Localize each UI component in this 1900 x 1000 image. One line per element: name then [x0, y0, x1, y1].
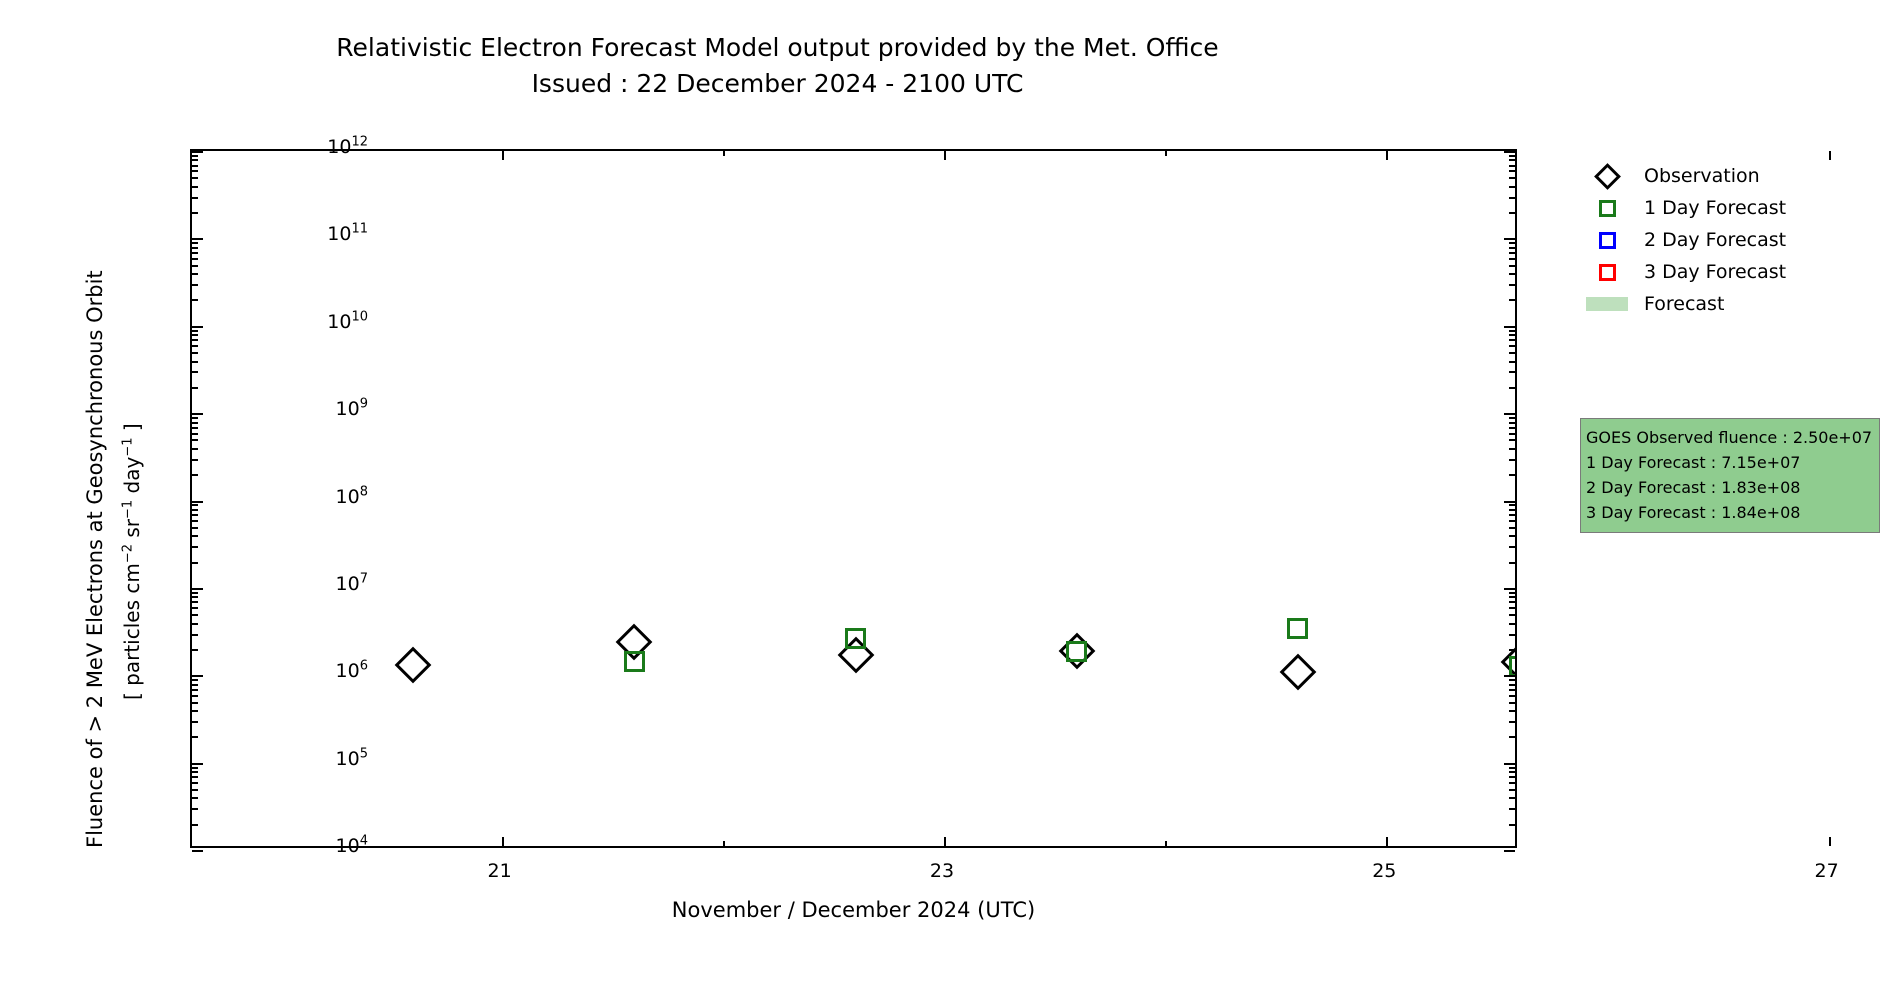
- y-tick-minor: [1509, 623, 1515, 625]
- y-tick-label: 106: [336, 662, 368, 681]
- x-tick-label: 21: [480, 860, 520, 882]
- y-tick-major: [192, 413, 203, 415]
- observation-marker: [1279, 653, 1316, 690]
- x-tick-major: [944, 837, 946, 846]
- x-tick-major: [502, 837, 504, 846]
- observation-marker: [395, 647, 432, 684]
- legend-item-label: 1 Day Forecast: [1644, 197, 1786, 219]
- y-tick-minor: [1509, 284, 1515, 286]
- square-icon: [1599, 264, 1616, 281]
- y-tick-minor: [1509, 562, 1515, 564]
- y-tick-minor: [192, 520, 198, 522]
- x-tick-label: 23: [922, 860, 962, 882]
- y-tick-major: [1504, 326, 1515, 328]
- y-tick-minor: [192, 427, 198, 429]
- y-tick-minor: [1509, 695, 1515, 697]
- y-tick-minor: [1509, 702, 1515, 704]
- y-tick-minor: [192, 242, 198, 244]
- x-tick-major: [1386, 837, 1388, 846]
- x-tick-minor: [1165, 841, 1167, 846]
- legend-item-2[interactable]: 2 Day Forecast: [1584, 224, 1884, 256]
- y-tick-minor: [192, 159, 198, 161]
- y-tick-minor: [1509, 689, 1515, 691]
- y-tick-minor: [1509, 782, 1515, 784]
- y-tick-minor: [192, 721, 198, 723]
- page-subtitle: Issued : 22 December 2024 - 2100 UTC: [0, 66, 1555, 102]
- x-tick-major: [944, 151, 946, 160]
- y-tick-minor: [192, 433, 198, 435]
- y-tick-minor: [1509, 352, 1515, 354]
- y-tick-minor: [192, 776, 198, 778]
- y-tick-minor: [1509, 165, 1515, 167]
- y-tick-minor: [1509, 417, 1515, 419]
- y-tick-minor: [192, 736, 198, 738]
- y-tick-minor: [1509, 427, 1515, 429]
- y-tick-minor: [192, 252, 198, 254]
- diamond-icon: [1594, 163, 1621, 190]
- y-tick-major: [1504, 588, 1515, 590]
- y-tick-minor: [192, 387, 198, 389]
- y-tick-minor: [192, 771, 198, 773]
- x-tick-major: [1829, 151, 1831, 160]
- y-tick-major: [1504, 238, 1515, 240]
- y-tick-major: [192, 326, 203, 328]
- y-tick-minor: [192, 546, 198, 548]
- y-tick-minor: [192, 797, 198, 799]
- legend-item-label: 3 Day Forecast: [1644, 261, 1786, 283]
- y-tick-minor: [1509, 247, 1515, 249]
- x-tick-minor: [723, 151, 725, 156]
- y-tick-minor: [192, 417, 198, 419]
- y-tick-major: [192, 675, 203, 677]
- info-line-2: 2 Day Forecast : 1.83e+08: [1586, 475, 1874, 500]
- legend-item-label: 2 Day Forecast: [1644, 229, 1786, 251]
- legend-item-0[interactable]: Observation: [1584, 160, 1884, 192]
- y-tick-minor: [192, 334, 198, 336]
- y-tick-minor: [1509, 679, 1515, 681]
- y-tick-minor: [192, 562, 198, 564]
- y-tick-minor: [1509, 634, 1515, 636]
- y-tick-minor: [1509, 339, 1515, 341]
- y-tick-minor: [1509, 509, 1515, 511]
- x-tick-label: 25: [1364, 860, 1404, 882]
- y-tick-minor: [1509, 170, 1515, 172]
- x-tick-minor: [723, 841, 725, 846]
- y-axis-title: Fluence of > 2 MeV Electrons at Geosynch…: [83, 270, 107, 848]
- y-tick-label: 104: [336, 837, 368, 856]
- y-tick-minor: [192, 177, 198, 179]
- legend-item-label: Observation: [1644, 165, 1760, 187]
- y-tick-label: 107: [336, 575, 368, 594]
- y-tick-minor: [1509, 771, 1515, 773]
- y-tick-minor: [192, 330, 198, 332]
- y-tick-minor: [192, 265, 198, 267]
- y-tick-minor: [1509, 649, 1515, 651]
- y-tick-minor: [1509, 345, 1515, 347]
- info-line-3: 3 Day Forecast : 1.84e+08: [1586, 500, 1874, 525]
- y-tick-label: 1012: [327, 138, 368, 157]
- y-tick-minor: [1509, 197, 1515, 199]
- chart-plot-inner: Forecast: [192, 151, 1515, 846]
- y-units-sup-2: −1: [120, 500, 135, 519]
- y-tick-minor: [192, 339, 198, 341]
- y-tick-minor: [192, 601, 198, 603]
- y-tick-minor: [1509, 808, 1515, 810]
- y-tick-minor: [1509, 459, 1515, 461]
- y-tick-major: [1504, 850, 1515, 852]
- page-title: Relativistic Electron Forecast Model out…: [0, 30, 1555, 66]
- y-tick-minor: [192, 514, 198, 516]
- y-tick-minor: [1509, 155, 1515, 157]
- patch-icon: [1586, 297, 1628, 311]
- y-units-sup-1: −2: [120, 544, 135, 563]
- x-tick-minor: [1165, 151, 1167, 156]
- y-units-mid-1: sr: [120, 519, 144, 544]
- y-tick-major: [192, 850, 203, 852]
- y-tick-minor: [192, 422, 198, 424]
- y-tick-minor: [192, 695, 198, 697]
- forecast-marker: [624, 651, 645, 672]
- y-tick-minor: [1509, 710, 1515, 712]
- y-tick-minor: [192, 710, 198, 712]
- y-tick-major: [1504, 675, 1515, 677]
- y-units-suffix: ]: [120, 423, 144, 437]
- forecast-marker: [845, 628, 866, 649]
- y-tick-minor: [1509, 504, 1515, 506]
- y-tick-minor: [192, 504, 198, 506]
- y-tick-minor: [1509, 776, 1515, 778]
- y-tick-minor: [1509, 824, 1515, 826]
- y-tick-minor: [192, 592, 198, 594]
- square-icon: [1599, 200, 1616, 217]
- y-tick-minor: [1509, 242, 1515, 244]
- y-tick-minor: [1509, 371, 1515, 373]
- y-tick-minor: [192, 607, 198, 609]
- legend-item-1[interactable]: 1 Day Forecast: [1584, 192, 1884, 224]
- y-tick-label: 1010: [327, 313, 368, 332]
- y-tick-minor: [1509, 448, 1515, 450]
- y-tick-minor: [1509, 721, 1515, 723]
- y-tick-major: [192, 151, 203, 153]
- y-tick-minor: [1509, 684, 1515, 686]
- y-tick-minor: [192, 474, 198, 476]
- y-tick-minor: [192, 634, 198, 636]
- y-tick-minor: [192, 155, 198, 157]
- y-tick-minor: [192, 459, 198, 461]
- y-tick-minor: [1509, 592, 1515, 594]
- y-tick-minor: [192, 197, 198, 199]
- y-tick-minor: [192, 782, 198, 784]
- y-tick-minor: [192, 212, 198, 214]
- y-tick-minor: [192, 299, 198, 301]
- info-line-1: 1 Day Forecast : 7.15e+07: [1586, 450, 1874, 475]
- y-tick-minor: [192, 273, 198, 275]
- y-tick-minor: [1509, 258, 1515, 260]
- y-tick-minor: [1509, 596, 1515, 598]
- y-tick-minor: [192, 824, 198, 826]
- forecast-marker: [1509, 656, 1516, 677]
- legend-item-3[interactable]: 3 Day Forecast: [1584, 256, 1884, 288]
- y-tick-minor: [1509, 159, 1515, 161]
- y-tick-minor: [192, 684, 198, 686]
- chart-plot-area: Forecast: [190, 149, 1517, 848]
- y-tick-minor: [192, 767, 198, 769]
- y-tick-major: [1504, 501, 1515, 503]
- y-tick-minor: [192, 352, 198, 354]
- y-tick-minor: [192, 596, 198, 598]
- y-tick-minor: [192, 702, 198, 704]
- y-tick-minor: [1509, 474, 1515, 476]
- y-units-sup-3: −1: [120, 437, 135, 456]
- y-tick-major: [192, 238, 203, 240]
- y-tick-label: 1011: [327, 225, 368, 244]
- forecast-marker: [1287, 618, 1308, 639]
- y-tick-minor: [192, 345, 198, 347]
- y-tick-minor: [1509, 186, 1515, 188]
- y-tick-minor: [1509, 514, 1515, 516]
- y-tick-minor: [1509, 535, 1515, 537]
- y-tick-minor: [1509, 387, 1515, 389]
- y-tick-minor: [1509, 361, 1515, 363]
- y-tick-minor: [1509, 520, 1515, 522]
- x-tick-major: [1386, 151, 1388, 160]
- y-tick-minor: [1509, 422, 1515, 424]
- y-units-prefix: [ particles cm: [120, 563, 144, 700]
- y-tick-minor: [1509, 527, 1515, 529]
- y-tick-minor: [192, 789, 198, 791]
- y-tick-major: [1504, 151, 1515, 153]
- y-tick-label: 105: [336, 750, 368, 769]
- y-axis-units-title: [ particles cm−2 sr−1 day−1 ]: [120, 423, 144, 700]
- y-tick-minor: [1509, 334, 1515, 336]
- y-tick-minor: [192, 808, 198, 810]
- fluence-summary-box: GOES Observed fluence : 2.50e+071 Day Fo…: [1580, 418, 1880, 533]
- y-tick-minor: [192, 448, 198, 450]
- y-tick-minor: [192, 679, 198, 681]
- y-tick-minor: [192, 614, 198, 616]
- y-tick-minor: [192, 509, 198, 511]
- x-tick-label: 27: [1807, 860, 1847, 882]
- y-tick-minor: [192, 258, 198, 260]
- y-tick-minor: [1509, 330, 1515, 332]
- y-tick-label: 109: [336, 400, 368, 419]
- y-tick-minor: [1509, 736, 1515, 738]
- x-tick-major: [502, 151, 504, 160]
- y-tick-minor: [1509, 252, 1515, 254]
- y-tick-minor: [1509, 299, 1515, 301]
- y-tick-minor: [192, 247, 198, 249]
- y-tick-minor: [192, 649, 198, 651]
- y-tick-minor: [192, 165, 198, 167]
- y-tick-minor: [1509, 177, 1515, 179]
- y-tick-minor: [1509, 614, 1515, 616]
- y-tick-minor: [1509, 546, 1515, 548]
- legend-item-label: Forecast: [1644, 293, 1724, 315]
- y-tick-minor: [1509, 433, 1515, 435]
- forecast-marker: [1066, 641, 1087, 662]
- y-tick-minor: [1509, 212, 1515, 214]
- info-line-0: GOES Observed fluence : 2.50e+07: [1586, 425, 1874, 450]
- square-icon: [1599, 232, 1616, 249]
- y-tick-minor: [192, 527, 198, 529]
- y-units-mid-2: day: [120, 457, 144, 500]
- y-tick-minor: [1509, 273, 1515, 275]
- y-tick-major: [192, 501, 203, 503]
- y-tick-minor: [192, 689, 198, 691]
- y-tick-label: 108: [336, 488, 368, 507]
- y-tick-minor: [192, 170, 198, 172]
- chart-legend: Observation1 Day Forecast2 Day Forecast3…: [1584, 160, 1884, 320]
- y-tick-minor: [1509, 265, 1515, 267]
- x-tick-major: [1829, 837, 1831, 846]
- y-tick-major: [192, 763, 203, 765]
- y-tick-minor: [1509, 789, 1515, 791]
- y-tick-minor: [192, 623, 198, 625]
- y-tick-minor: [192, 284, 198, 286]
- y-tick-minor: [1509, 439, 1515, 441]
- y-tick-minor: [192, 371, 198, 373]
- y-tick-minor: [192, 439, 198, 441]
- legend-item-4[interactable]: Forecast: [1584, 288, 1884, 320]
- y-tick-major: [1504, 413, 1515, 415]
- y-tick-minor: [1509, 797, 1515, 799]
- y-tick-minor: [1509, 601, 1515, 603]
- y-tick-minor: [192, 361, 198, 363]
- chart-title-block: Relativistic Electron Forecast Model out…: [0, 30, 1555, 102]
- y-tick-major: [192, 588, 203, 590]
- y-tick-minor: [192, 186, 198, 188]
- y-tick-minor: [1509, 607, 1515, 609]
- y-tick-minor: [192, 535, 198, 537]
- x-axis-title: November / December 2024 (UTC): [190, 898, 1517, 922]
- y-tick-major: [1504, 763, 1515, 765]
- y-tick-minor: [1509, 767, 1515, 769]
